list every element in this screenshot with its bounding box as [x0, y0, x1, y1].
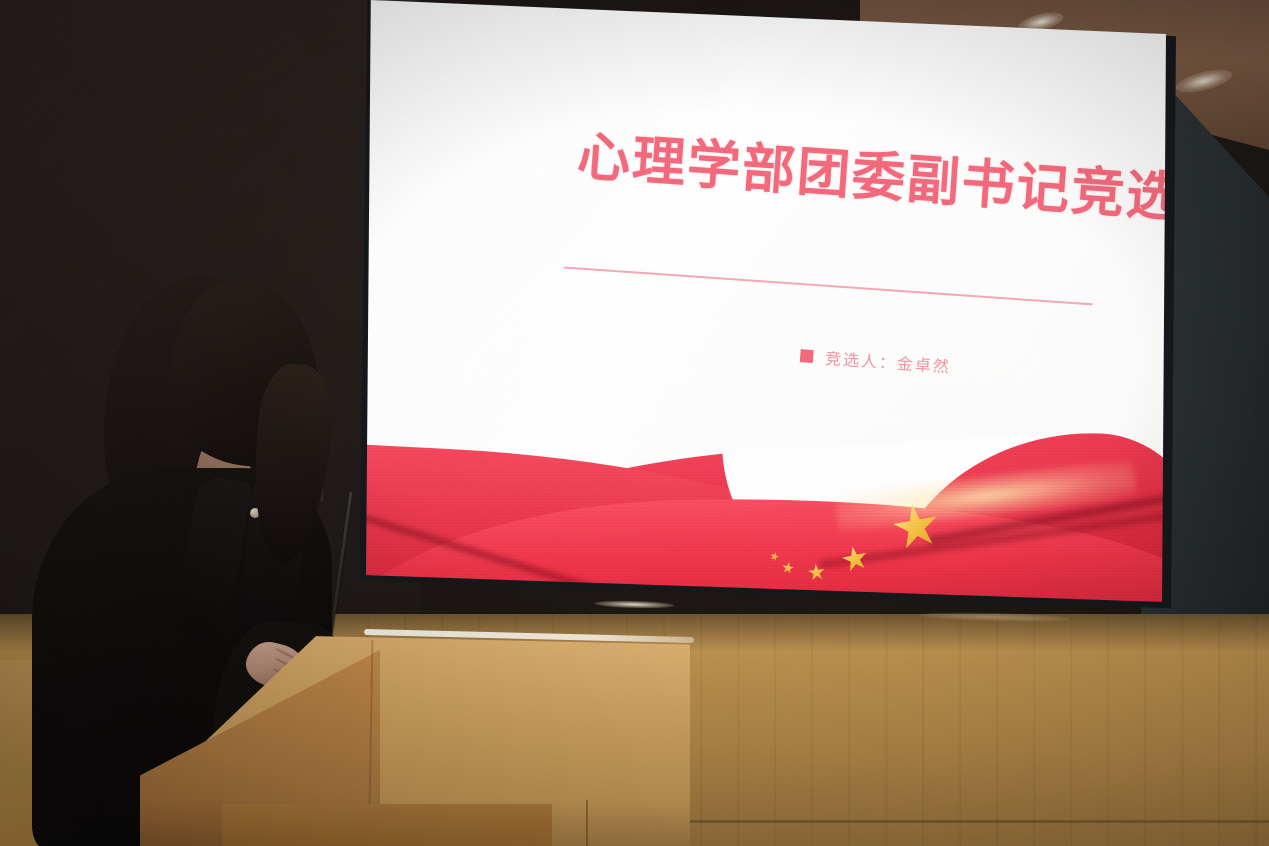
projection-screen: 心理学部团委副书记竞选 竞选人：金卓然 — [366, 0, 1166, 608]
slide-subtitle-row: 竞选人：金卓然 — [799, 343, 951, 377]
podium-base — [222, 804, 552, 846]
slide-content-group: 心理学部团委副书记竞选 竞选人：金卓然 — [366, 0, 1164, 608]
presentation-photo-scene: 心理学部团委副书记竞选 竞选人：金卓然 — [0, 0, 1269, 846]
slide-top-decoration-icon — [814, 0, 831, 8]
podium-base-edge-line — [586, 800, 588, 846]
slide-subtitle: 竞选人：金卓然 — [824, 345, 951, 378]
slide-divider-rule — [564, 266, 1093, 305]
square-bullet-icon — [800, 349, 814, 363]
slide-title: 心理学部团委副书记竞选 — [576, 127, 1139, 225]
screen-bottom-glint-1 — [594, 600, 674, 609]
